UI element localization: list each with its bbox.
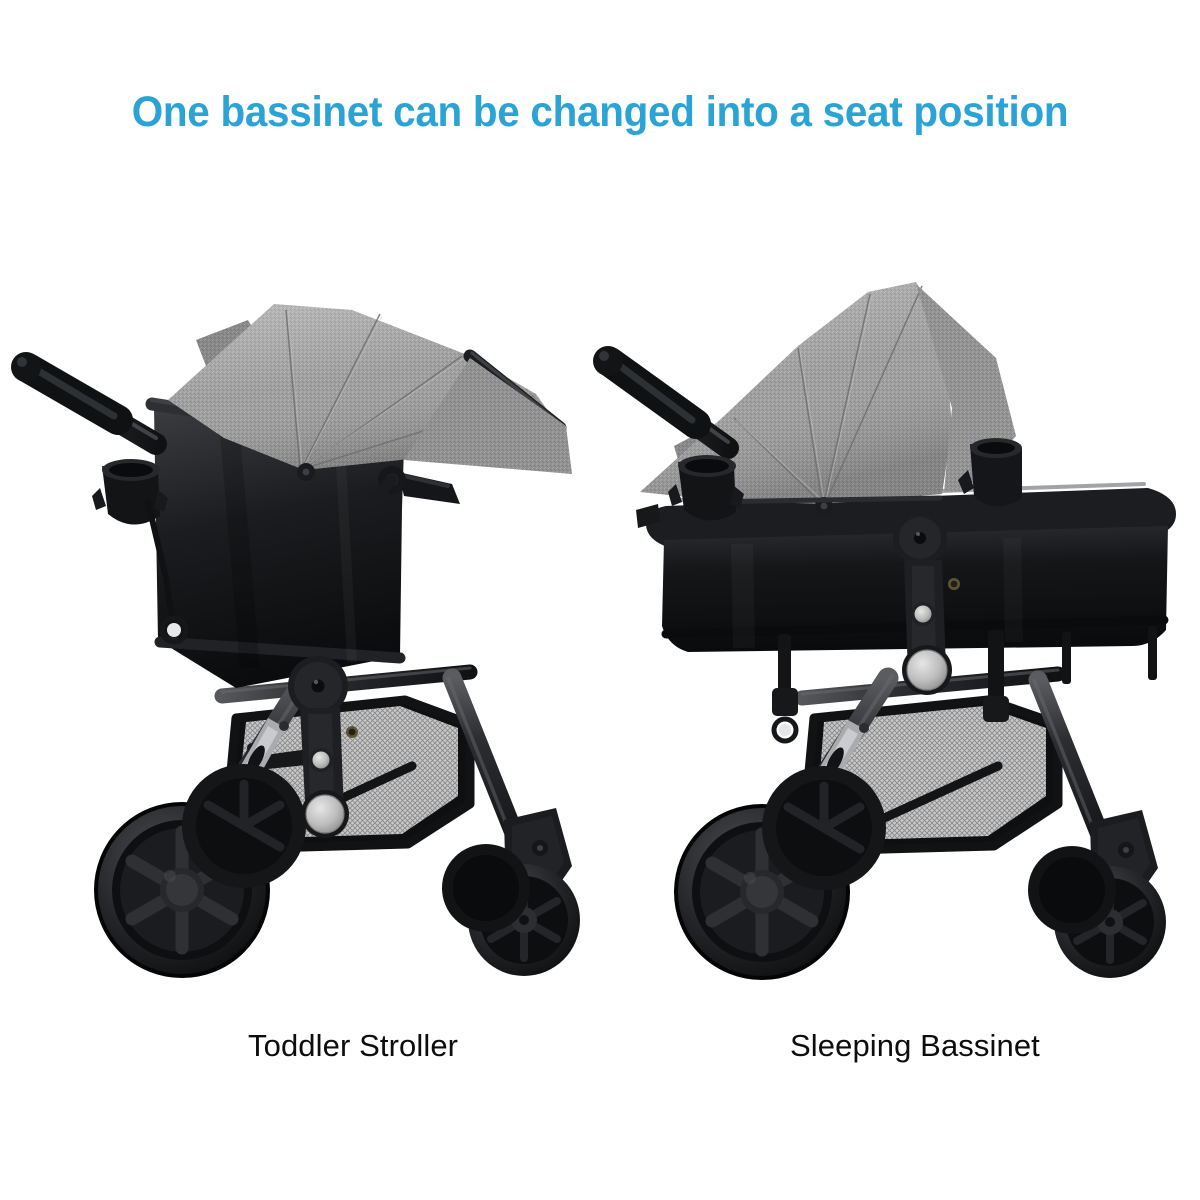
cup-holder[interactable] — [92, 459, 168, 525]
sleeping-bassinet-illustration — [592, 248, 1200, 1008]
handlebar[interactable] — [593, 346, 728, 448]
caption-toddler-stroller: Toddler Stroller — [248, 1028, 458, 1064]
page-title: One bassinet can be changed into a seat … — [36, 88, 1164, 137]
handlebar[interactable] — [11, 352, 156, 444]
caption-sleeping-bassinet: Sleeping Bassinet — [790, 1028, 1040, 1064]
rear-wheel-far — [182, 764, 306, 888]
toddler-stroller-illustration — [0, 248, 600, 1008]
rear-wheel-far — [762, 766, 886, 890]
product-image-sleeping-bassinet — [592, 248, 1200, 1008]
product-image-toddler-stroller — [0, 248, 600, 1008]
front-wheel — [1028, 810, 1166, 978]
front-wheel — [442, 808, 580, 976]
product-comparison-image: One bassinet can be changed into a seat … — [0, 0, 1200, 1200]
